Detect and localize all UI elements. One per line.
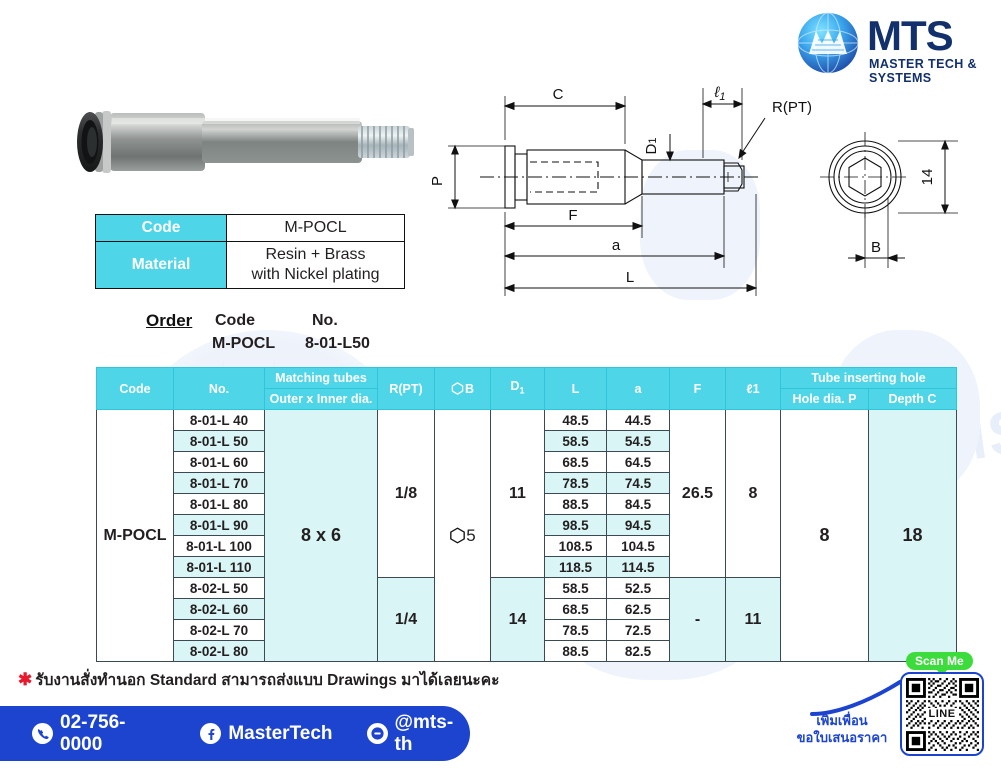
dim-label-p: P xyxy=(429,176,446,186)
cell-l: 78.5 xyxy=(545,620,607,641)
th-no: No. xyxy=(174,368,265,410)
th-d1: D1 xyxy=(491,368,545,410)
spec-label-material: Material xyxy=(96,242,227,289)
header-row-1: Code No. Matching tubes R(PT) B D1 L a F… xyxy=(97,368,957,389)
cell-no: 8-01-L 100 xyxy=(174,536,265,557)
datasheet-page: MASTER TECH & SYSTEMS xyxy=(0,0,1001,783)
order-title: Order xyxy=(146,311,192,331)
qr-line-label: LINE xyxy=(926,708,957,720)
contact-facebook[interactable]: MasterTech xyxy=(200,723,332,745)
phone-number: 02-756-0000 xyxy=(60,712,166,756)
cell-no: 8-01-L 40 xyxy=(174,410,265,431)
spec-label-code: Code xyxy=(96,215,227,242)
th-matching-tubes: Matching tubes xyxy=(265,368,378,389)
material-line-1: Resin + Brass xyxy=(231,245,400,265)
qr-caption: เพิ่มเพื่อน ขอใบเสนอราคา xyxy=(782,712,902,746)
cell-a: 74.5 xyxy=(607,473,670,494)
spec-table: Code M-POCL Material Resin + Brass with … xyxy=(95,214,405,289)
spec-value-code: M-POCL xyxy=(227,215,405,242)
dimension-table: Code No. Matching tubes R(PT) B D1 L a F… xyxy=(96,367,957,662)
th-rpt: R(PT) xyxy=(378,368,435,410)
cell-l: 98.5 xyxy=(545,515,607,536)
th-hole-dia: Hole dia. P xyxy=(781,389,869,410)
cell-a: 72.5 xyxy=(607,620,670,641)
product-photo xyxy=(62,100,422,190)
order-header-row: Order Code No. xyxy=(146,311,426,335)
th-f: F xyxy=(670,368,726,410)
dim-label-hex-across: 14 xyxy=(919,169,936,186)
spec-row-material: Material Resin + Brass with Nickel plati… xyxy=(96,242,405,289)
line-qr-code[interactable]: LINE xyxy=(900,672,984,756)
th-l: L xyxy=(545,368,607,410)
cell-d1: 11 xyxy=(491,410,545,578)
cell-l: 58.5 xyxy=(545,431,607,452)
cell-l: 78.5 xyxy=(545,473,607,494)
material-line-2: with Nickel plating xyxy=(231,265,400,285)
footnote-text: รับงานสั่งทำนอก Standard สามารถส่งแบบ Dr… xyxy=(35,672,499,689)
contact-line[interactable]: @mts-th xyxy=(367,712,470,756)
asterisk-icon: ✱ xyxy=(18,670,32,689)
contact-phone[interactable]: 02-756-0000 xyxy=(32,712,166,756)
logo-wordmark: MTS xyxy=(867,14,953,58)
cell-f: - xyxy=(670,578,726,662)
th-b-label: B xyxy=(465,382,474,396)
th-depth: Depth C xyxy=(869,389,957,410)
cell-no: 8-02-L 80 xyxy=(174,641,265,662)
dim-label-l1: ℓ1 xyxy=(714,84,726,103)
order-no-value: 8-01-L50 xyxy=(305,335,370,353)
cell-matching-tubes: 8 x 6 xyxy=(265,410,378,662)
hexagon-icon xyxy=(451,382,464,395)
th-b: B xyxy=(435,368,491,410)
dim-label-f: F xyxy=(568,207,577,224)
cell-f: 26.5 xyxy=(670,410,726,578)
th-tube-inserting-hole: Tube inserting hole xyxy=(781,368,957,389)
cell-a: 82.5 xyxy=(607,641,670,662)
qr-caption-line-1: เพิ่มเพื่อน xyxy=(782,712,902,729)
cell-a: 84.5 xyxy=(607,494,670,515)
cell-l: 88.5 xyxy=(545,641,607,662)
qr-caption-line-2: ขอใบเสนอราคา xyxy=(782,729,902,746)
cell-l: 48.5 xyxy=(545,410,607,431)
cell-no: 8-01-L 80 xyxy=(174,494,265,515)
scan-me-badge: Scan Me xyxy=(906,652,973,670)
cell-code: M-POCL xyxy=(97,410,174,662)
cell-a: 104.5 xyxy=(607,536,670,557)
cell-b: 5 xyxy=(435,410,491,662)
cell-l: 118.5 xyxy=(545,557,607,578)
order-code-value: M-POCL xyxy=(212,335,275,353)
th-a: a xyxy=(607,368,670,410)
cell-l1: 11 xyxy=(726,578,781,662)
line-icon xyxy=(367,723,388,744)
order-col-code-label: Code xyxy=(215,312,255,330)
dim-label-c: C xyxy=(553,86,564,103)
cell-no: 8-01-L 60 xyxy=(174,452,265,473)
cell-a: 114.5 xyxy=(607,557,670,578)
cell-no: 8-02-L 70 xyxy=(174,620,265,641)
order-value-row: M-POCL 8-01-L50 xyxy=(146,335,426,359)
phone-icon xyxy=(32,723,53,744)
order-block: Order Code No. M-POCL 8-01-L50 xyxy=(146,311,426,359)
cell-no: 8-02-L 50 xyxy=(174,578,265,599)
company-logo: MTS MASTER TECH & SYSTEMS xyxy=(797,10,992,76)
cell-a: 44.5 xyxy=(607,410,670,431)
cell-rpt: 1/4 xyxy=(378,578,435,662)
qr-code-box[interactable]: LINE xyxy=(900,672,984,756)
cell-a: 52.5 xyxy=(607,578,670,599)
dim-label-l: L xyxy=(626,269,634,286)
dim-label-d1: D1 xyxy=(643,138,660,155)
spec-row-code: Code M-POCL xyxy=(96,215,405,242)
spec-value-material: Resin + Brass with Nickel plating xyxy=(227,242,405,289)
cell-depth: 18 xyxy=(869,410,957,662)
facebook-name: MasterTech xyxy=(228,723,332,745)
order-col-no-label: No. xyxy=(312,312,338,330)
cell-rpt: 1/8 xyxy=(378,410,435,578)
dim-label-rpt: R(PT) xyxy=(772,99,812,116)
cell-l1: 8 xyxy=(726,410,781,578)
cell-no: 8-01-L 70 xyxy=(174,473,265,494)
technical-drawing: C ℓ1 P D1 R(PT) F a xyxy=(420,78,1000,328)
contact-bar: 02-756-0000 MasterTech @mts-th xyxy=(0,706,470,761)
dim-label-b: B xyxy=(871,239,881,256)
dimension-table-body: M-POCL 8-01-L 40 8 x 6 1/8 5 11 48.5 44.… xyxy=(97,410,957,662)
cell-l: 68.5 xyxy=(545,452,607,473)
footnote: ✱รับงานสั่งทำนอก Standard สามารถส่งแบบ D… xyxy=(18,667,499,692)
cell-d1: 14 xyxy=(491,578,545,662)
cell-no: 8-02-L 60 xyxy=(174,599,265,620)
cell-l: 58.5 xyxy=(545,578,607,599)
cell-l: 68.5 xyxy=(545,599,607,620)
hexagon-icon xyxy=(449,527,466,544)
th-l1: ℓ1 xyxy=(726,368,781,410)
dim-label-a: a xyxy=(612,237,621,254)
cell-a: 64.5 xyxy=(607,452,670,473)
cell-l: 88.5 xyxy=(545,494,607,515)
cell-l: 108.5 xyxy=(545,536,607,557)
cell-no: 8-01-L 90 xyxy=(174,515,265,536)
cell-a: 54.5 xyxy=(607,431,670,452)
table-row: M-POCL 8-01-L 40 8 x 6 1/8 5 11 48.5 44.… xyxy=(97,410,957,431)
cell-a: 62.5 xyxy=(607,599,670,620)
globe-icon xyxy=(797,12,859,74)
facebook-icon xyxy=(200,723,221,744)
th-matching-tubes-sub: Outer x Inner dia. xyxy=(265,389,378,410)
cell-no: 8-01-L 50 xyxy=(174,431,265,452)
cell-hole-dia: 8 xyxy=(781,410,869,662)
cell-a: 94.5 xyxy=(607,515,670,536)
th-code: Code xyxy=(97,368,174,410)
cell-no: 8-01-L 110 xyxy=(174,557,265,578)
line-id: @mts-th xyxy=(395,712,470,756)
dimension-table-head: Code No. Matching tubes R(PT) B D1 L a F… xyxy=(97,368,957,410)
